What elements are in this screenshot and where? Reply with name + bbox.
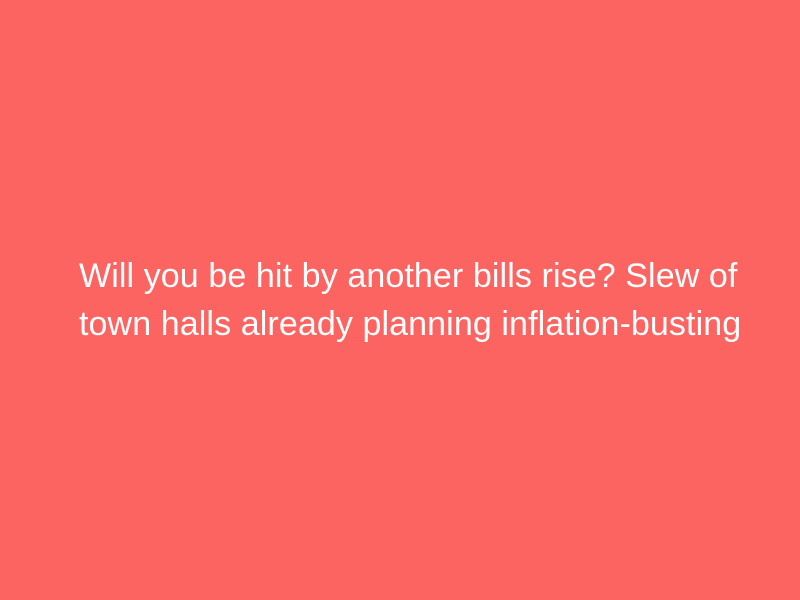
- headline-card: Will you be hit by another bills rise? S…: [0, 0, 800, 600]
- page-title: Will you be hit by another bills rise? S…: [79, 252, 729, 348]
- headline-line-2: town halls already planning inflation-bu…: [79, 300, 729, 348]
- headline-line-1: Will you be hit by another bills rise? S…: [79, 252, 729, 300]
